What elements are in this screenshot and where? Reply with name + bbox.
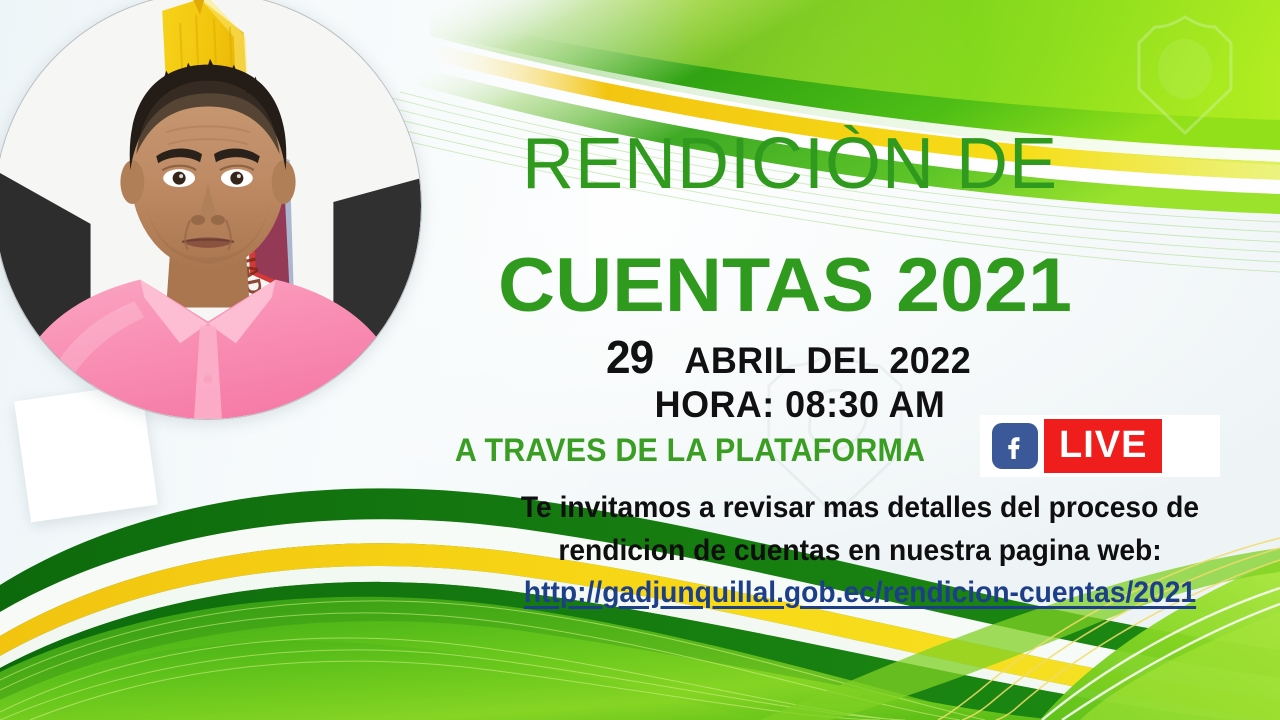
page-title-line2: CUENTAS 2021 bbox=[437, 248, 1134, 324]
invitation-line-1: Te invitamos a revisar mas detalles del … bbox=[479, 487, 1240, 530]
facebook-live-badge[interactable]: LIVE bbox=[980, 415, 1220, 477]
website-url-link[interactable]: http://gadjunquillal.gob.ec/rendicion-cu… bbox=[479, 572, 1240, 615]
poster-content: RENDICIÒN DE CUENTAS 2021 29 ABRIL DEL 2… bbox=[420, 0, 1280, 720]
facebook-f-icon[interactable] bbox=[992, 423, 1038, 469]
page-title-line1: RENDICIÒN DE bbox=[460, 128, 1120, 200]
invitation-line-2: rendicion de cuentas en nuestra pagina w… bbox=[479, 530, 1240, 573]
rendicion-cuentas-poster: ECUADOR bbox=[0, 0, 1280, 720]
event-month-year: ABRIL DEL 2022 bbox=[684, 342, 971, 379]
portrait-photo-illustration: ECUADOR bbox=[0, 0, 421, 419]
portrait-photo: ECUADOR bbox=[0, 0, 422, 420]
event-day-number: 29 bbox=[606, 334, 653, 380]
live-badge-label[interactable]: LIVE bbox=[1044, 419, 1162, 473]
invitation-paragraph: Te invitamos a revisar mas detalles del … bbox=[479, 487, 1240, 615]
platform-label: A TRAVES DE LA PLATAFORMA bbox=[419, 434, 961, 466]
event-date-row: 29 ABRIL DEL 2022 bbox=[480, 334, 1100, 380]
